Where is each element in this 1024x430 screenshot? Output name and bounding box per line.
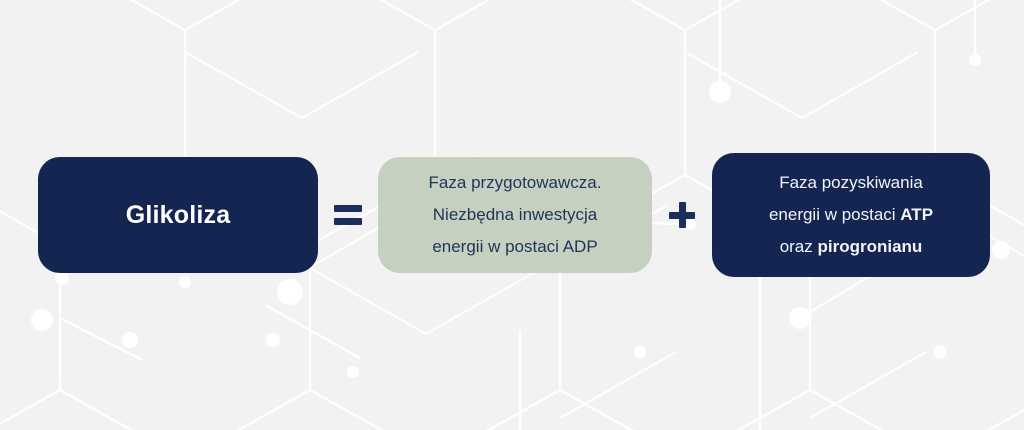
payoff-phase-card: Faza pozyskiwania energii w postaci ATP …: [712, 153, 990, 277]
payoff-phase-line-2-prefix: energii w postaci: [769, 205, 900, 224]
payoff-phase-line-3: oraz pirogronianu: [769, 231, 933, 263]
payoff-phase-atp: ATP: [900, 205, 933, 224]
payoff-phase-line-3-prefix: oraz: [780, 237, 818, 256]
payoff-phase-text: Faza pozyskiwania energii w postaci ATP …: [769, 167, 933, 263]
payoff-phase-line-2: energii w postaci ATP: [769, 199, 933, 231]
plus-icon: [669, 202, 695, 228]
preparatory-phase-line-2: Niezbędna inwestycja: [429, 199, 602, 231]
equals-icon: [334, 205, 362, 225]
plus-operator: [652, 202, 712, 228]
payoff-phase-line-1: Faza pozyskiwania: [769, 167, 933, 199]
preparatory-phase-line-3: energii w postaci ADP: [429, 231, 602, 263]
glycolysis-term-card: Glikoliza: [38, 157, 318, 273]
payoff-phase-pyruvate: pirogronianu: [817, 237, 922, 256]
preparatory-phase-line-1: Faza przygotowawcza.: [429, 167, 602, 199]
glycolysis-term-label: Glikoliza: [126, 201, 231, 230]
glycolysis-equation: Glikoliza Faza przygotowawcza. Niezbędna…: [0, 0, 1024, 430]
equals-operator: [318, 205, 378, 225]
infographic-canvas: Glikoliza Faza przygotowawcza. Niezbędna…: [0, 0, 1024, 430]
preparatory-phase-card: Faza przygotowawcza. Niezbędna inwestycj…: [378, 157, 652, 273]
preparatory-phase-text: Faza przygotowawcza. Niezbędna inwestycj…: [429, 167, 602, 263]
